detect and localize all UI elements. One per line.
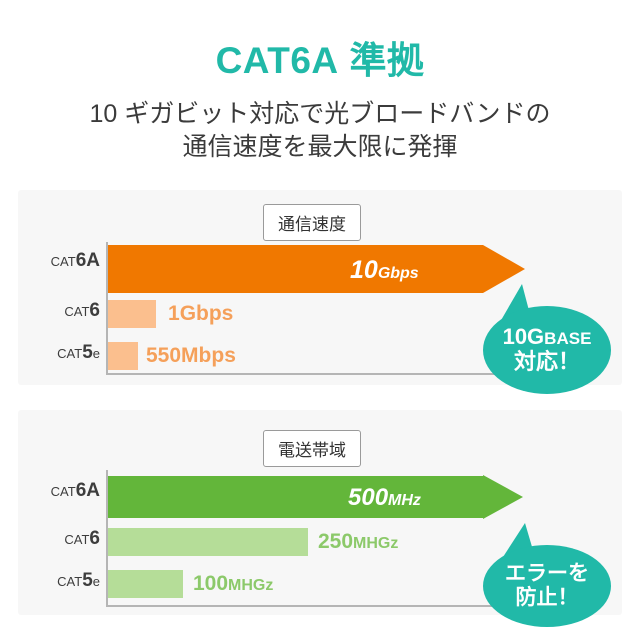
bar-speed-cat6a bbox=[108, 245, 483, 293]
row-label-main: 6 bbox=[89, 300, 100, 321]
row-label-prefix: CAT bbox=[51, 484, 76, 499]
row-label-prefix: CAT bbox=[51, 254, 76, 269]
bar-value-band-cat5e: 100MHGz bbox=[193, 572, 273, 596]
page-title-sub: 準拠 bbox=[349, 40, 424, 81]
row-label-prefix: CAT bbox=[57, 346, 82, 361]
callout-line1-speed: 10GBASE bbox=[503, 325, 592, 350]
page-subtitle-line1: 10 ギガビット対応で光ブロードバンドの bbox=[0, 98, 640, 131]
callout-line2-speed: 対応！ bbox=[514, 350, 580, 375]
bar-band-cat6a bbox=[108, 476, 483, 518]
bar-arrow-band-cat6a bbox=[483, 475, 523, 519]
row-label-suffix: e bbox=[93, 574, 100, 589]
bar-speed-cat6 bbox=[108, 300, 156, 328]
row-label-main: 5 bbox=[82, 570, 93, 591]
bar-value-speed-cat6: 1Gbps bbox=[168, 302, 233, 326]
bar-value-speed-cat5e: 550Mbps bbox=[146, 344, 236, 368]
x-axis-speed bbox=[106, 373, 531, 375]
row-label-main: 6A bbox=[76, 480, 100, 501]
bar-value-band-cat6: 250MHGz bbox=[318, 530, 398, 554]
row-label-main: 6 bbox=[89, 528, 100, 549]
page-title-main: CAT6A bbox=[216, 40, 339, 81]
page-subtitle: 10 ギガビット対応で光ブロードバンドの 通信速度を最大限に発揮 bbox=[0, 98, 640, 164]
row-label-main: 5 bbox=[82, 342, 93, 363]
row-label-prefix: CAT bbox=[64, 532, 89, 547]
panel-label-band: 電送帯域 bbox=[263, 430, 361, 467]
row-label-band-cat6: CAT6 bbox=[12, 528, 108, 550]
bar-band-cat6 bbox=[108, 528, 308, 556]
row-label-speed-cat5e: CAT5e bbox=[12, 342, 108, 364]
callout-line2-band: 防止！ bbox=[516, 586, 579, 610]
callout-bubble-band: エラーを 防止！ bbox=[483, 545, 611, 627]
callout-bubble-speed: 10GBASE 対応！ bbox=[483, 306, 611, 394]
row-label-band-cat6a: CAT6A bbox=[12, 480, 108, 502]
row-label-speed-cat6: CAT6 bbox=[12, 300, 108, 322]
page-title: CAT6A 準拠 bbox=[0, 30, 640, 84]
row-label-main: 6A bbox=[76, 250, 100, 271]
page-subtitle-line2: 通信速度を最大限に発揮 bbox=[0, 131, 640, 164]
infographic-page: CAT6A 準拠 10 ギガビット対応で光ブロードバンドの 通信速度を最大限に発… bbox=[0, 0, 640, 640]
callout-line1-band: エラーを bbox=[505, 562, 589, 586]
row-label-speed-cat6a: CAT6A bbox=[12, 250, 108, 272]
row-label-band-cat5e: CAT5e bbox=[12, 570, 108, 592]
bar-band-cat5e bbox=[108, 570, 183, 598]
x-axis-band bbox=[106, 605, 531, 607]
panel-label-speed: 通信速度 bbox=[263, 204, 361, 241]
row-label-suffix: e bbox=[93, 346, 100, 361]
row-label-prefix: CAT bbox=[64, 304, 89, 319]
row-label-prefix: CAT bbox=[57, 574, 82, 589]
bar-value-band-cat6a: 500MHz bbox=[348, 484, 421, 512]
bar-speed-cat5e bbox=[108, 342, 138, 370]
bar-value-speed-cat6a: 10Gbps bbox=[350, 256, 419, 285]
